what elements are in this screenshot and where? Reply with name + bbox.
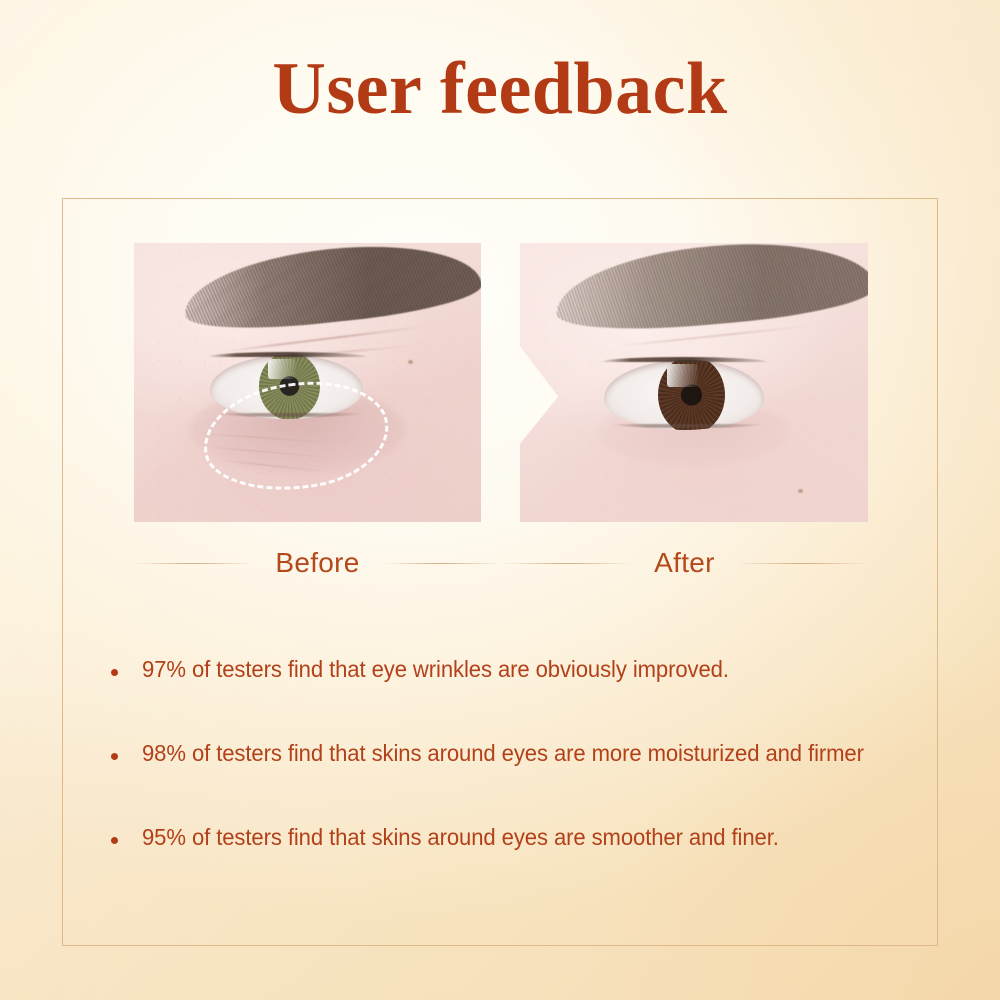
after-photo	[520, 243, 868, 522]
before-upper-lashline	[207, 352, 367, 357]
before-photo	[134, 243, 481, 522]
after-eye	[604, 360, 764, 430]
photo-labels: Before After	[134, 537, 868, 589]
divider-line-right	[382, 563, 501, 564]
after-label-group: After	[501, 537, 868, 589]
after-upper-lashline	[600, 357, 767, 362]
before-after-photo-row	[134, 243, 868, 522]
list-item: 95% of testers find that skins around ey…	[111, 822, 921, 853]
after-label: After	[654, 547, 715, 579]
feedback-text: 97% of testers find that eye wrinkles ar…	[142, 654, 729, 685]
bullet-dot-icon	[111, 753, 118, 760]
list-item: 98% of testers find that skins around ey…	[111, 738, 921, 769]
page-title: User feedback	[0, 52, 1000, 126]
bullet-dot-icon	[111, 837, 118, 844]
before-label: Before	[275, 547, 359, 579]
bullet-dot-icon	[111, 669, 118, 676]
feedback-text: 98% of testers find that skins around ey…	[142, 738, 864, 769]
list-item: 97% of testers find that eye wrinkles ar…	[111, 654, 921, 685]
feedback-text: 95% of testers find that skins around ey…	[142, 822, 779, 853]
feedback-list: 97% of testers find that eye wrinkles ar…	[111, 654, 921, 853]
after-iris	[658, 360, 725, 430]
divider-line-right	[737, 563, 868, 564]
before-label-group: Before	[134, 537, 501, 589]
promo-page: User feedback	[0, 0, 1000, 1000]
divider-line-left	[501, 563, 632, 564]
content-frame: Before After 97% of testers find that ey…	[62, 198, 938, 946]
divider-line-left	[134, 563, 253, 564]
after-mole	[798, 489, 803, 493]
